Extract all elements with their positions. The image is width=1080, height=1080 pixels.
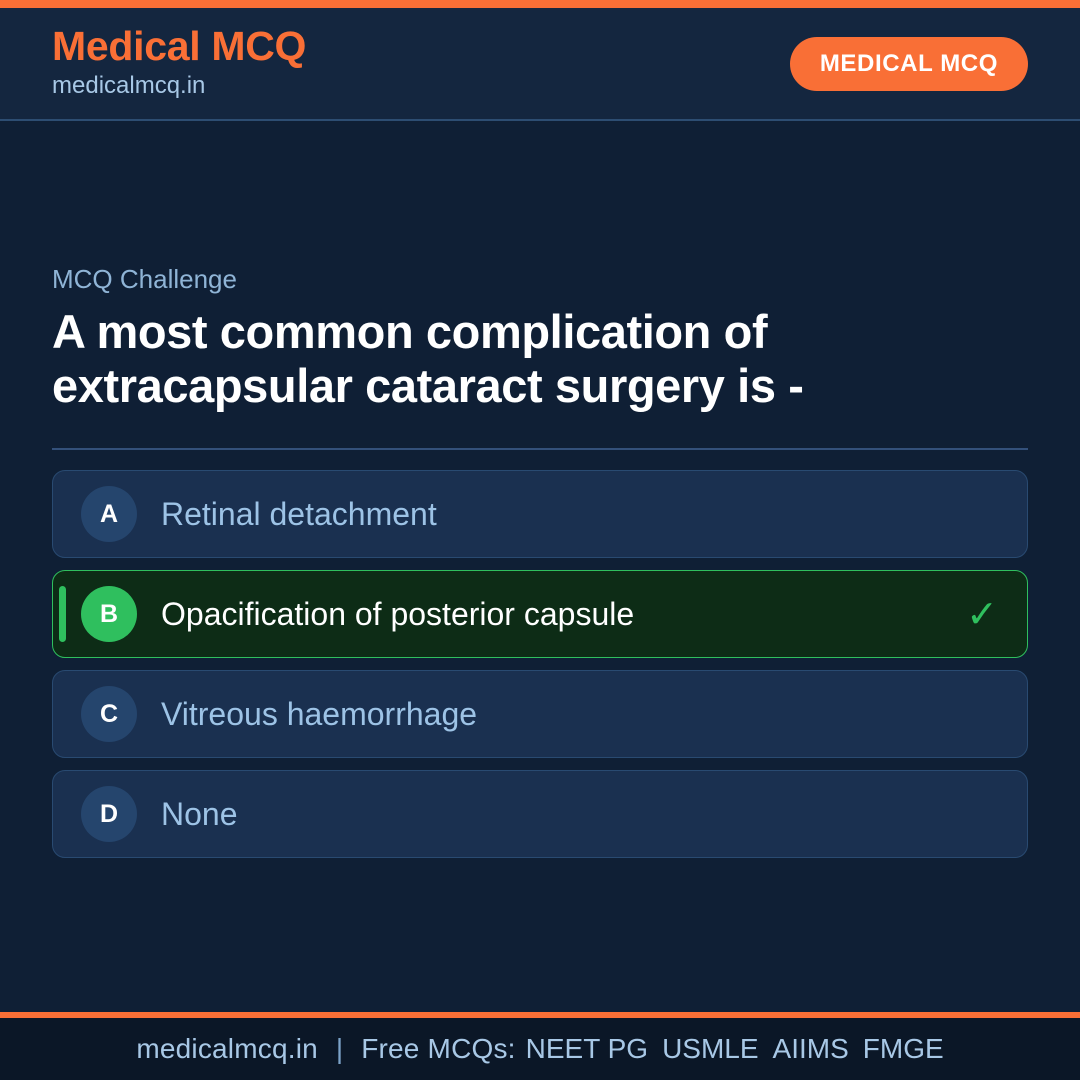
footer-label: Free MCQs: bbox=[361, 1033, 525, 1065]
footer-tag-fmge: FMGE bbox=[863, 1033, 944, 1064]
option-c-badge: C bbox=[81, 686, 137, 742]
footer-site: medicalmcq.in bbox=[136, 1033, 318, 1065]
option-b-badge: B bbox=[81, 586, 137, 642]
option-d[interactable]: D None bbox=[52, 770, 1028, 858]
option-c[interactable]: C Vitreous haemorrhage bbox=[52, 670, 1028, 758]
footer-tag-neetpg: NEET PG bbox=[526, 1033, 662, 1064]
brand-title: Medical MCQ bbox=[52, 24, 306, 68]
eyebrow-label: MCQ Challenge bbox=[52, 264, 1028, 295]
question-divider bbox=[52, 448, 1028, 450]
option-a-badge: A bbox=[81, 486, 137, 542]
footer-tags: NEET PGUSMLEAIIMSFMGE bbox=[526, 1033, 944, 1065]
option-c-label: Vitreous haemorrhage bbox=[161, 695, 965, 733]
footer-tag-usmle: USMLE bbox=[662, 1033, 772, 1064]
option-b[interactable]: B Opacification of posterior capsule ✓ bbox=[52, 570, 1028, 658]
page-footer: medicalmcq.in | Free MCQs: NEET PGUSMLEA… bbox=[0, 1018, 1080, 1080]
top-accent-bar bbox=[0, 0, 1080, 8]
option-b-accent-bar bbox=[59, 586, 66, 642]
option-a[interactable]: A Retinal detachment bbox=[52, 470, 1028, 558]
top-spacer bbox=[52, 121, 1028, 264]
option-a-label: Retinal detachment bbox=[161, 495, 965, 533]
option-b-check-icon: ✓ bbox=[965, 592, 999, 637]
mcq-card-page: Medical MCQ medicalmcq.in MEDICAL MCQ MC… bbox=[0, 0, 1080, 1080]
main-content: MCQ Challenge A most common complication… bbox=[0, 121, 1080, 1012]
option-d-badge: D bbox=[81, 786, 137, 842]
brand-subtitle: medicalmcq.in bbox=[52, 71, 306, 101]
option-b-label: Opacification of posterior capsule bbox=[161, 595, 965, 633]
footer-tag-aiims: AIIMS bbox=[773, 1033, 863, 1064]
footer-separator: | bbox=[318, 1033, 361, 1065]
brand-badge: MEDICAL MCQ bbox=[790, 37, 1028, 91]
option-d-label: None bbox=[161, 795, 965, 833]
page-header: Medical MCQ medicalmcq.in MEDICAL MCQ bbox=[0, 8, 1080, 121]
brand-block: Medical MCQ medicalmcq.in bbox=[52, 24, 306, 100]
question-text: A most common complication of extracapsu… bbox=[52, 305, 1012, 412]
bottom-spacer bbox=[52, 858, 1028, 1012]
options-list: A Retinal detachment B Opacification of … bbox=[52, 470, 1028, 858]
